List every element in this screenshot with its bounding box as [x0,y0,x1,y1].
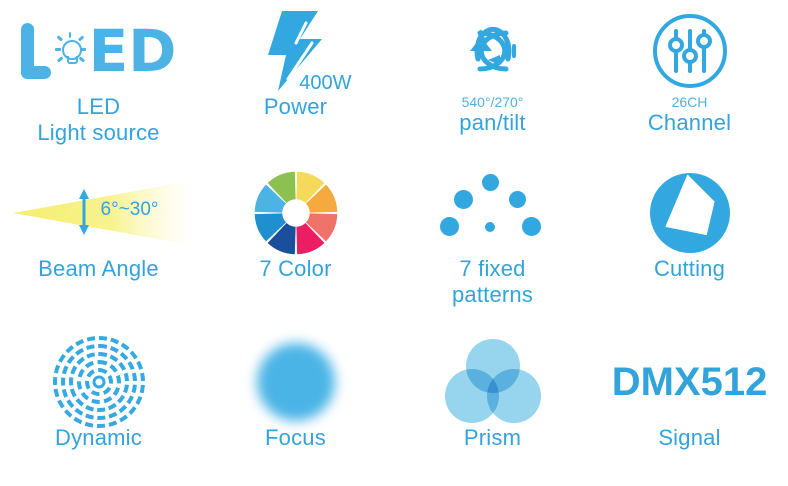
feature-card-led-light-source: LED ED LED Light source [0,0,197,160]
feature-card-dynamic: Dynamic [0,325,197,486]
channel-shape [650,11,730,91]
blurred-spot-icon [206,339,386,425]
feature-card-fixed-patterns: 7 fixed patterns [394,160,591,325]
three-circles-icon [403,339,583,425]
led-bulb-icon: LED ED [9,8,189,94]
feature-label-patterns-line2: patterns [452,282,533,308]
feature-card-power: 400W Power [197,0,394,160]
feature-card-prism: Prism [394,325,591,486]
led-letters-ed: ED [89,23,177,79]
feature-label-line2: Light source [37,120,159,146]
lightning-bolt-icon: 400W [206,8,386,94]
beam-angle-value: 6°~30° [101,199,159,221]
dmx-value: DMX512 [612,360,768,405]
pan-tilt-shape [450,11,536,91]
beam-angle-arrow [77,189,91,235]
dmx-text-icon: DMX512 [600,339,780,425]
feature-label-cutting: Cutting [654,256,725,282]
power-value: 400W [299,72,351,95]
feature-card-channel: 26CH Channel [591,0,788,160]
sliders-circle-icon [600,8,780,94]
feature-label-dynamic: Dynamic [55,425,142,451]
feature-label-seven-color: 7 Color [259,256,331,282]
feature-card-signal: DMX512 Signal [591,325,788,486]
rotation-arrows-icon [403,8,583,94]
color-wheel-shape [253,170,339,256]
color-wheel-icon [206,170,386,256]
channel-value: 26CH [672,94,708,110]
feature-label-patterns-line1: 7 fixed [459,256,525,282]
feature-label-pan-tilt: pan/tilt [459,110,525,136]
feature-label-line1: LED [77,94,120,120]
dynamic-rings [57,340,141,424]
pattern-dots [438,174,548,252]
feature-label-focus: Focus [265,425,326,451]
feature-card-pan-tilt: 540°/270° pan/tilt [394,0,591,160]
pan-tilt-value: 540°/270° [462,94,524,110]
focus-spot [257,343,335,421]
gobo-dots-icon [403,170,583,256]
feature-label-prism: Prism [464,425,521,451]
feature-card-beam-angle: 6°~30° Beam Angle [0,160,197,325]
feature-card-focus: Focus [197,325,394,486]
beam-cone-icon: 6°~30° [9,170,189,256]
feature-label-beam-angle: Beam Angle [38,256,159,282]
feature-label-signal: Signal [658,425,720,451]
feature-card-cutting: Cutting [591,160,788,325]
feature-grid: LED ED LED Light source 400W Power [0,0,788,486]
framing-shutter-icon [600,170,780,256]
concentric-maze-icon [9,339,189,425]
feature-label-power: Power [264,94,327,120]
prism-circles [445,339,541,425]
cutting-shape [648,171,732,255]
bulb-glyph [55,31,87,71]
led-letter-l [21,23,55,79]
feature-label-channel: Channel [648,110,731,136]
feature-card-seven-color: 7 Color [197,160,394,325]
